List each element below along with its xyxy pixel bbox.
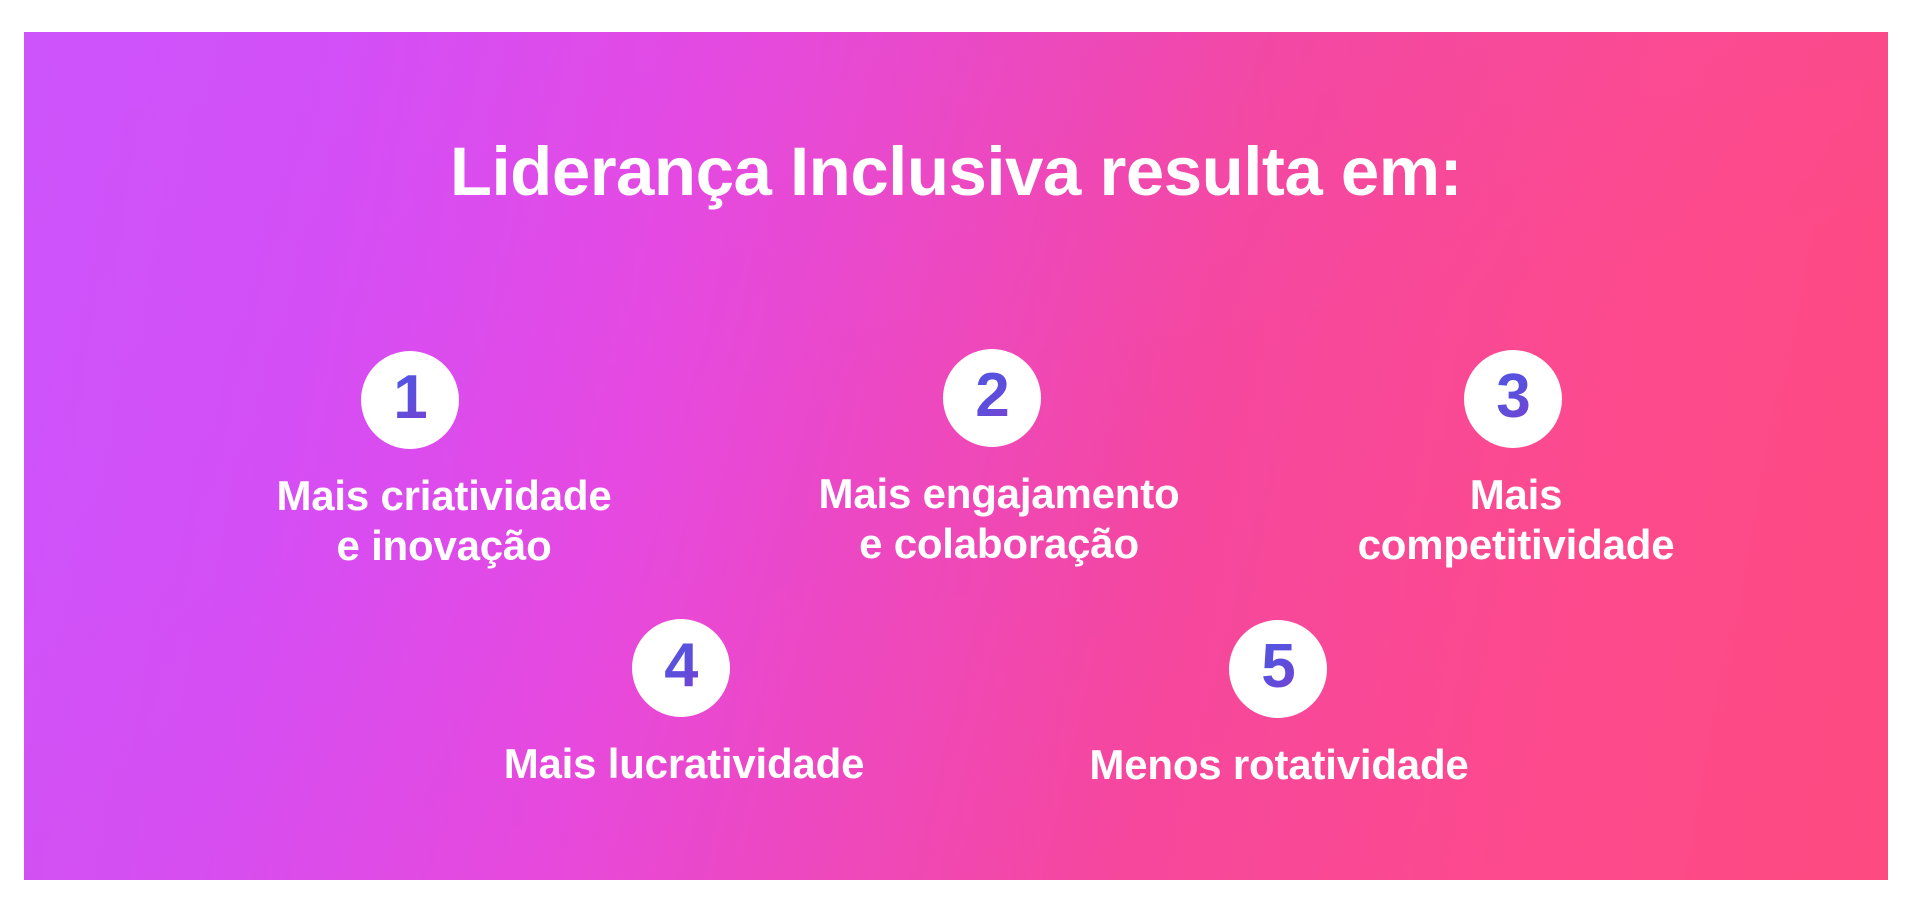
benefit-item-5: 5 Menos rotatividade	[1035, 620, 1523, 790]
benefit-label-3: Mais competitividade	[1358, 470, 1675, 569]
page-title: Liderança Inclusiva resulta em:	[24, 136, 1888, 208]
number-badge-1: 1	[361, 351, 459, 449]
benefit-item-1: 1 Mais criatividade e inovação	[200, 351, 688, 570]
badge-number-4: 4	[664, 635, 697, 701]
badge-number-2: 2	[975, 365, 1008, 431]
benefit-item-4: 4 Mais lucratividade	[440, 619, 928, 789]
number-badge-5: 5	[1229, 620, 1327, 718]
benefit-label-2: Mais engajamento e colaboração	[819, 469, 1180, 568]
number-badge-4: 4	[632, 619, 730, 717]
badge-number-1: 1	[393, 367, 426, 433]
benefit-label-1: Mais criatividade e inovação	[276, 471, 611, 570]
benefit-item-3: 3 Mais competitividade	[1272, 350, 1760, 569]
badge-number-3: 3	[1496, 366, 1529, 432]
benefit-label-5: Menos rotatividade	[1089, 740, 1468, 790]
benefit-item-2: 2 Mais engajamento e colaboração	[755, 349, 1243, 568]
gradient-panel: Liderança Inclusiva resulta em: 1 Mais c…	[24, 32, 1888, 880]
panel-content: Liderança Inclusiva resulta em: 1 Mais c…	[24, 32, 1888, 880]
number-badge-2: 2	[943, 349, 1041, 447]
number-badge-3: 3	[1464, 350, 1562, 448]
slide-canvas: Liderança Inclusiva resulta em: 1 Mais c…	[0, 0, 1918, 919]
benefit-label-4: Mais lucratividade	[504, 739, 865, 789]
badge-number-5: 5	[1261, 636, 1294, 702]
